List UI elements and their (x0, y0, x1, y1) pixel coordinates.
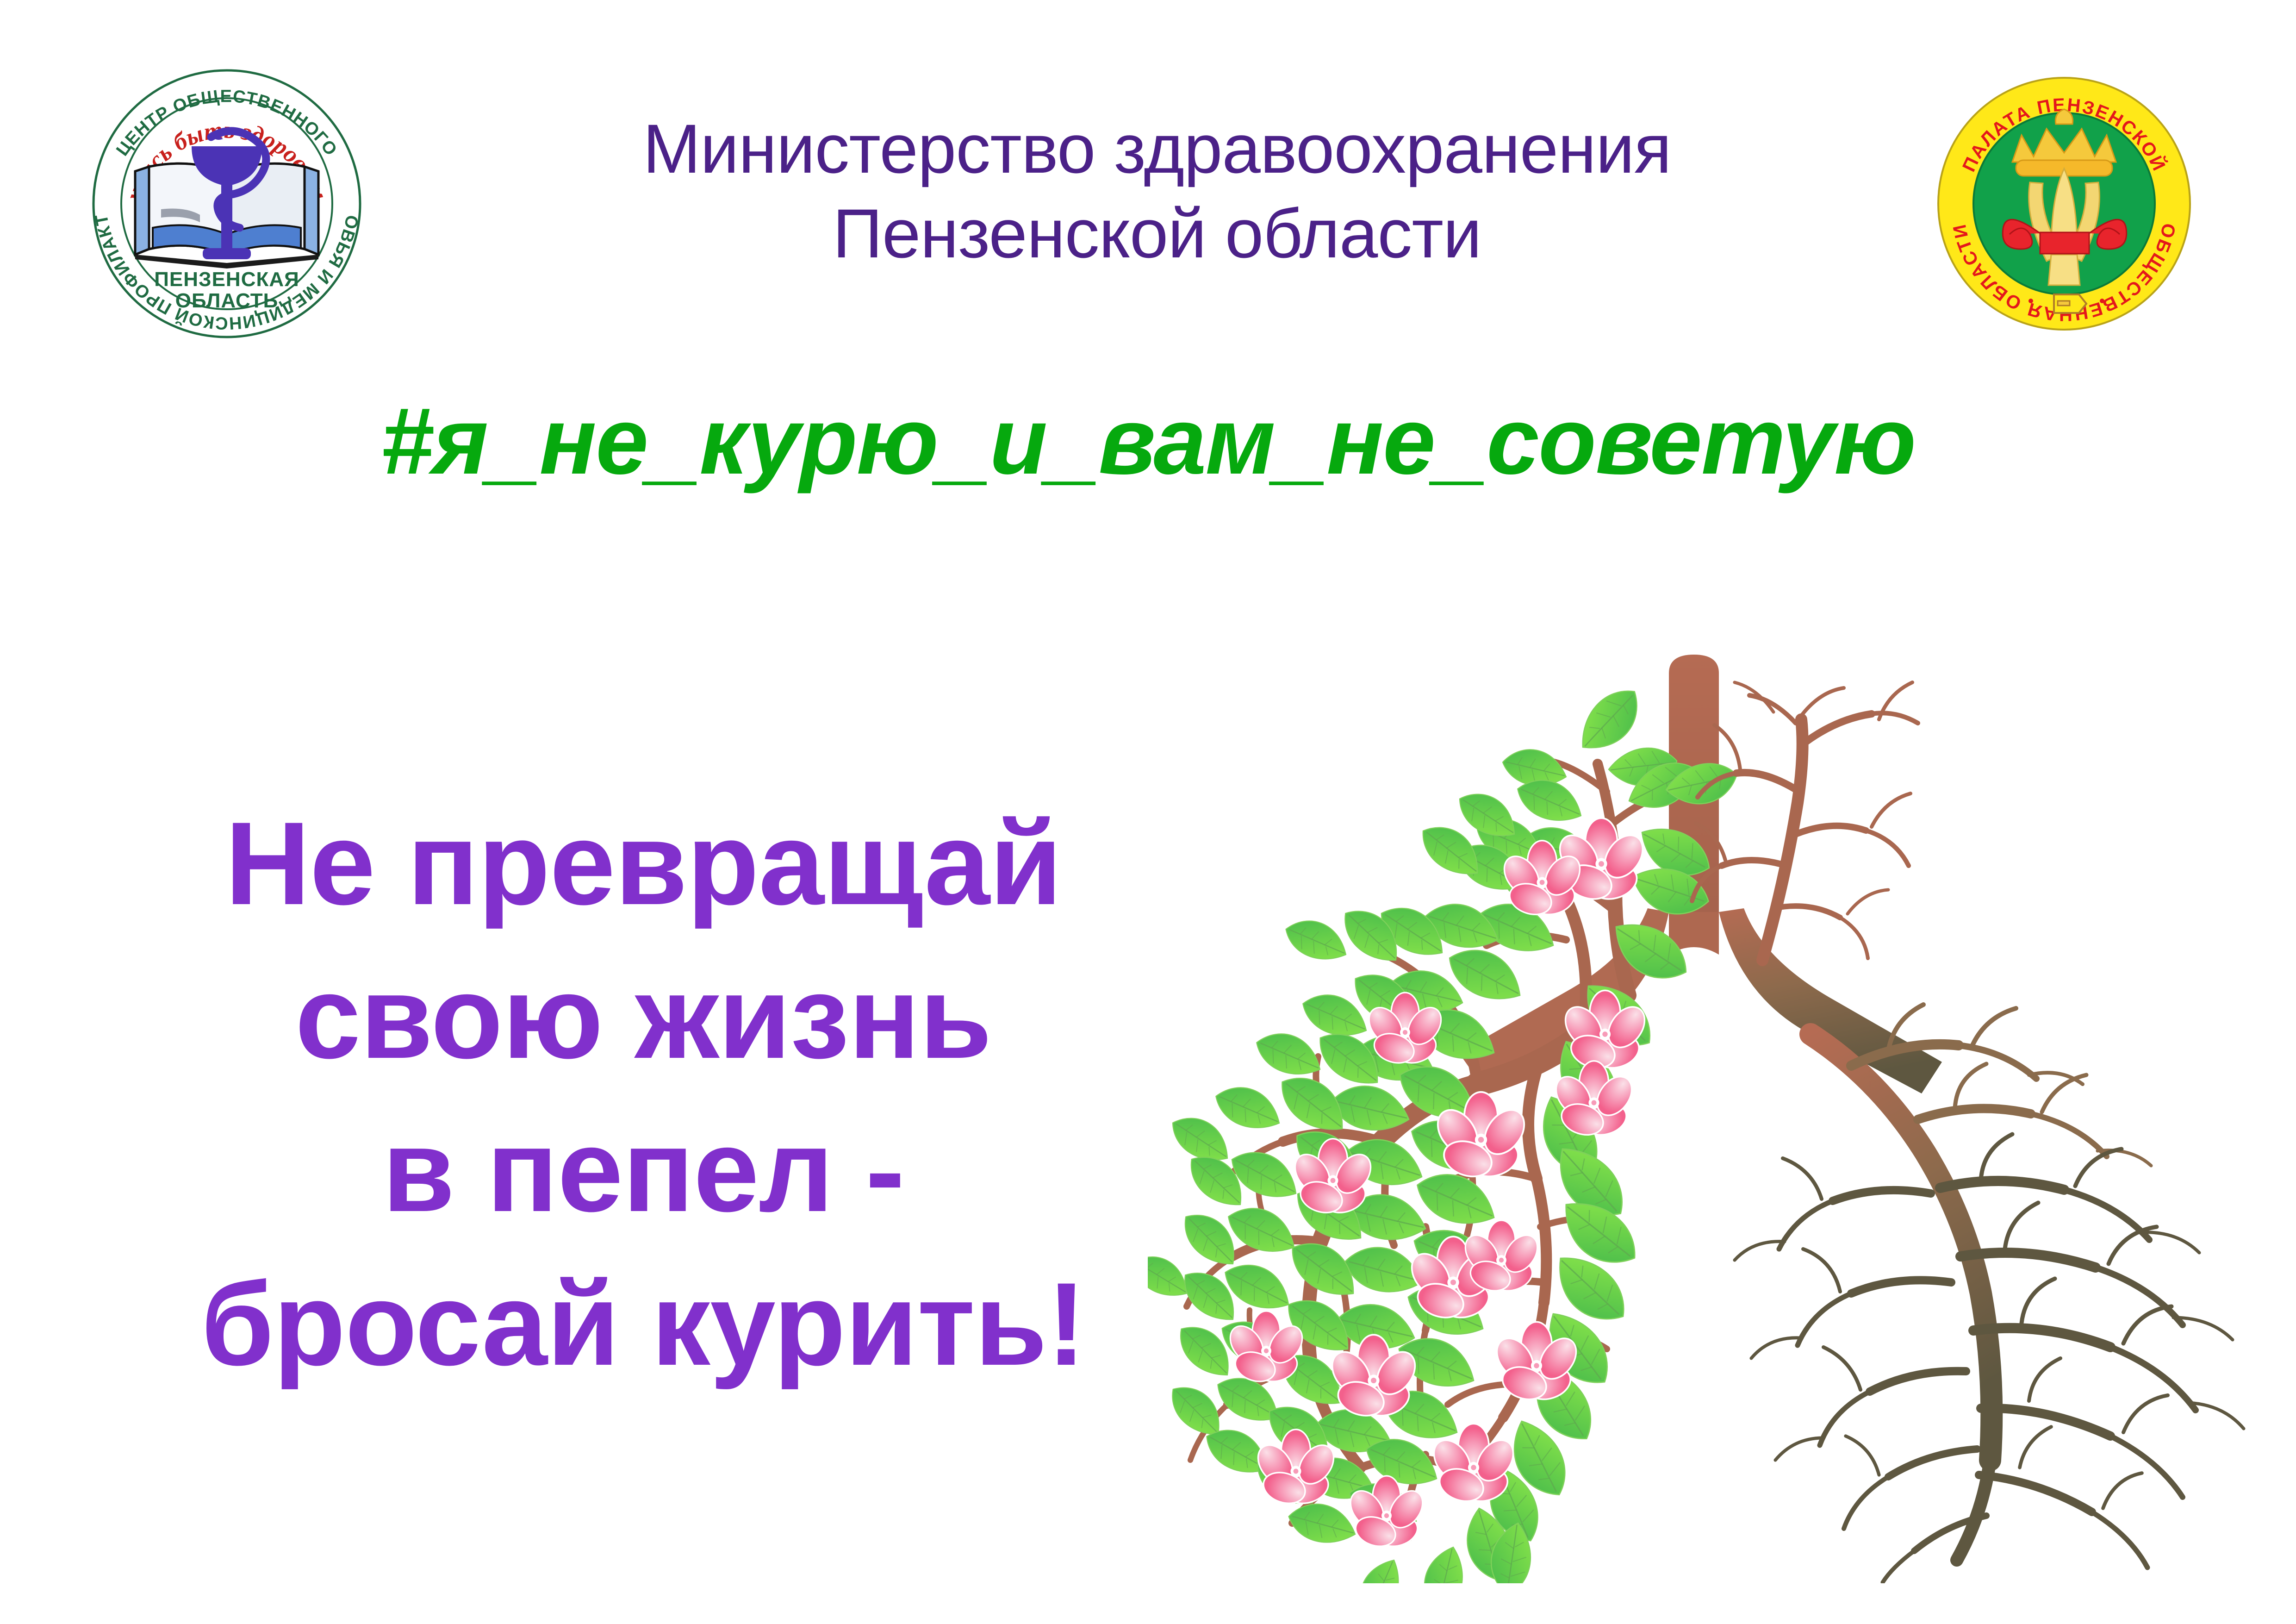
ministry-title-line-1: Министерство здравоохранения (532, 106, 1782, 191)
slogan-text: Не превращай свою жизнь в пепел - бросай… (106, 787, 1180, 1401)
right-lung-dead-tree (1692, 682, 2244, 1582)
left-lung-flowering-tree (1148, 679, 1742, 1583)
ministry-title: Министерство здравоохранения Пензенской … (532, 106, 1782, 276)
slogan-line-4: бросай курить! (106, 1248, 1180, 1401)
slogan-line-3: в пепел - (106, 1094, 1180, 1248)
logo-region-line1: ПЕНЗЕНСКАЯ (154, 268, 299, 291)
campaign-hashtag: #я_не_курю_и_вам_не_советую (0, 394, 2296, 488)
slogan-line-1: Не превращай (106, 787, 1180, 941)
slogan-line-2: свою жизнь (106, 941, 1180, 1094)
ministry-title-line-2: Пензенской области (532, 191, 1782, 276)
lungs-tree-illustration (1148, 634, 2259, 1583)
logo-health-center: ЦЕНТР ОБЩЕСТВЕННОГО ЗДОРОВЬЯ И МЕДИЦИНСК… (79, 56, 375, 343)
logo-public-chamber: ПАЛАТА ПЕНЗЕНСКОЙ ОБЩЕСТВЕННАЯ ОБЛАСТИ (1930, 69, 2198, 338)
logo-region-line2: ОБЛАСТЬ (175, 289, 279, 312)
poster-canvas: ЦЕНТР ОБЩЕСТВЕННОГО ЗДОРОВЬЯ И МЕДИЦИНСК… (0, 0, 2296, 1624)
poster-header: ЦЕНТР ОБЩЕСТВЕННОГО ЗДОРОВЬЯ И МЕДИЦИНСК… (0, 0, 2296, 361)
